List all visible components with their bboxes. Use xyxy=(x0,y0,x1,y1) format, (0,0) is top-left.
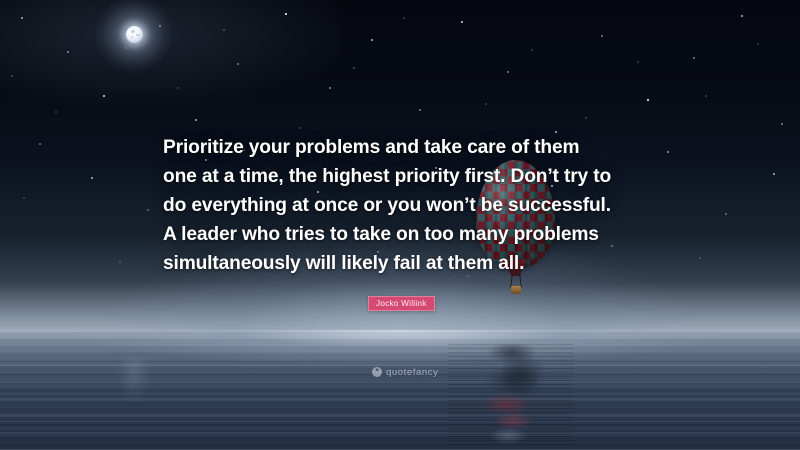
author-badge[interactable]: Jocko Willink xyxy=(368,296,435,311)
moon-reflection xyxy=(110,358,158,436)
quote-image-canvas: Prioritize your problems and take care o… xyxy=(0,0,800,450)
quote-mark-icon: ❝ xyxy=(372,367,382,377)
watermark-label: quotefancy xyxy=(386,367,438,378)
balloon-reflection-streaks xyxy=(448,344,574,448)
moon-icon xyxy=(118,18,150,50)
balloon-basket xyxy=(511,286,521,294)
moon-crater xyxy=(131,30,135,33)
water-surface xyxy=(0,330,800,450)
quote-line-1: Prioritize your problems and take care o… xyxy=(163,133,649,162)
quote-line-4: A leader who tries to take on too many p… xyxy=(163,220,649,249)
quote-line-3: do everything at once or you won’t be su… xyxy=(163,191,649,220)
moon-crater xyxy=(131,36,133,38)
quote-line-2: one at a time, the highest priority firs… xyxy=(163,162,649,191)
moon-crater xyxy=(136,34,139,37)
moon-disc xyxy=(126,26,143,43)
quotefancy-watermark: ❝ quotefancy xyxy=(372,366,438,378)
quote-line-5: simultaneously will likely fail at them … xyxy=(163,249,649,278)
balloon-reflection xyxy=(448,344,574,448)
quote-text: Prioritize your problems and take care o… xyxy=(163,133,649,278)
